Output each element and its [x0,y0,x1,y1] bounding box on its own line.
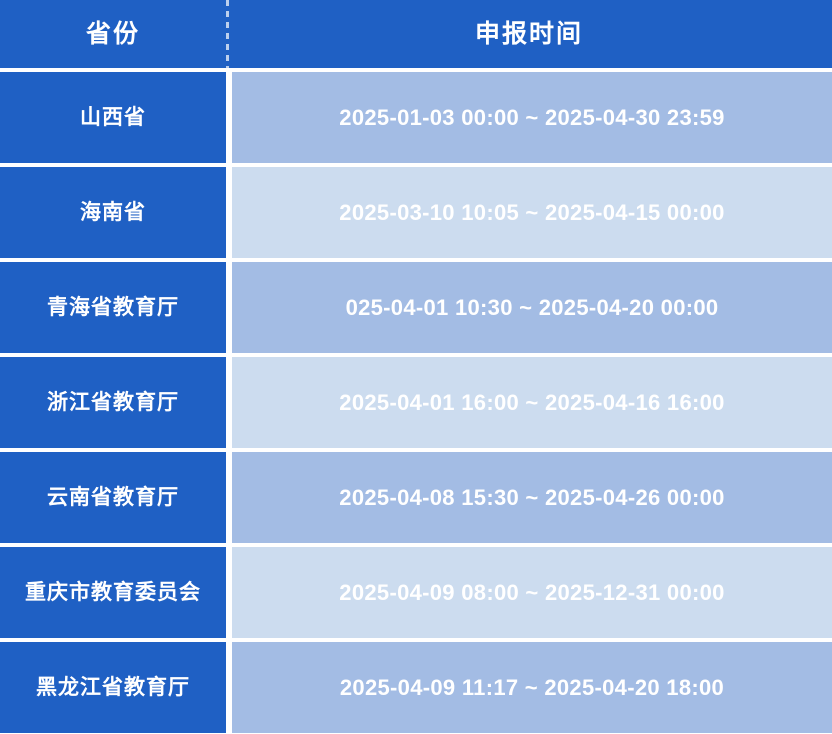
table-row: 云南省教育厅2025-04-08 15:30 ~ 2025-04-26 00:0… [0,452,832,543]
cell-province: 山西省 [0,72,226,163]
cell-province: 浙江省教育厅 [0,357,226,448]
cell-declaration-time: 025-04-01 10:30 ~ 2025-04-20 00:00 [232,262,832,353]
declaration-schedule-table: 省份 申报时间 山西省2025-01-03 00:00 ~ 2025-04-30… [0,0,832,733]
cell-declaration-time: 2025-04-09 11:17 ~ 2025-04-20 18:00 [232,642,832,733]
cell-declaration-time: 2025-01-03 00:00 ~ 2025-04-30 23:59 [232,72,832,163]
table-row: 青海省教育厅025-04-01 10:30 ~ 2025-04-20 00:00 [0,262,832,353]
cell-declaration-time: 2025-04-01 16:00 ~ 2025-04-16 16:00 [232,357,832,448]
cell-province: 重庆市教育委员会 [0,547,226,638]
table-row: 重庆市教育委员会2025-04-09 08:00 ~ 2025-12-31 00… [0,547,832,638]
cell-province: 海南省 [0,167,226,258]
column-header-province: 省份 [0,0,226,68]
table-row: 海南省2025-03-10 10:05 ~ 2025-04-15 00:00 [0,167,832,258]
header-column-divider [226,0,229,68]
table-row: 山西省2025-01-03 00:00 ~ 2025-04-30 23:59 [0,72,832,163]
column-header-time: 申报时间 [226,0,832,68]
table-row: 黑龙江省教育厅2025-04-09 11:17 ~ 2025-04-20 18:… [0,642,832,733]
cell-province: 青海省教育厅 [0,262,226,353]
cell-province: 云南省教育厅 [0,452,226,543]
table-row: 浙江省教育厅2025-04-01 16:00 ~ 2025-04-16 16:0… [0,357,832,448]
cell-province: 黑龙江省教育厅 [0,642,226,733]
cell-declaration-time: 2025-04-09 08:00 ~ 2025-12-31 00:00 [232,547,832,638]
cell-declaration-time: 2025-03-10 10:05 ~ 2025-04-15 00:00 [232,167,832,258]
table-header-row: 省份 申报时间 [0,0,832,68]
cell-declaration-time: 2025-04-08 15:30 ~ 2025-04-26 00:00 [232,452,832,543]
table-body: 山西省2025-01-03 00:00 ~ 2025-04-30 23:59海南… [0,68,832,733]
